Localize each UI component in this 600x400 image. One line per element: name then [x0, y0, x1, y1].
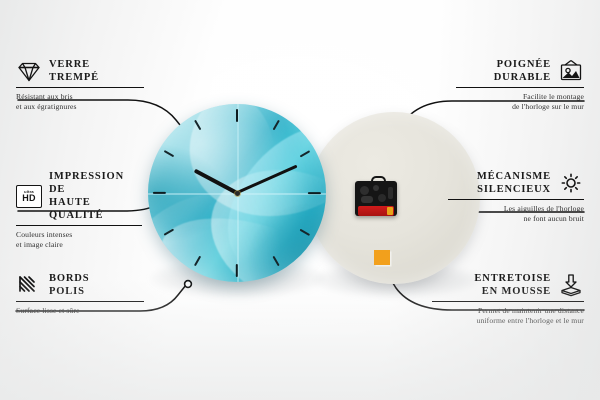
foam-spacer-pad: [374, 250, 390, 265]
feature-desc-line2: ne font aucun bruit: [448, 214, 584, 224]
feature-desc-line1: Couleurs intenses: [16, 230, 142, 240]
feature-title-line2: SILENCIEUX: [477, 183, 551, 196]
feature-desc-line2: et image claire: [16, 240, 142, 250]
feature-title-line1: BORDS: [49, 272, 89, 285]
diamond-icon: [16, 59, 42, 83]
divider: [456, 87, 584, 88]
feature-desc-line2: uniforme entre l'horloge et le mur: [432, 316, 584, 326]
feature-poignee-durable: POIGNÉE DURABLE Facilite le montage de l…: [456, 58, 584, 112]
infographic-canvas: VERRE TREMPÉ Résistant aux bris et aux é…: [0, 0, 600, 400]
divider: [432, 301, 584, 302]
feature-entretoise-en-mousse: ENTRETOISE EN MOUSSE Permet de maintenir…: [432, 272, 584, 326]
feature-mecanisme-silencieux: MÉCANISME SILENCIEUX Les aiguilles de l'…: [448, 170, 584, 224]
feature-title-line1: POIGNÉE: [494, 58, 551, 71]
feature-desc-line2: de l'horloge sur le mur: [456, 102, 584, 112]
feature-title-line1: ENTRETOISE: [474, 272, 551, 285]
feature-desc-line1: Surface lisse et sûre: [16, 306, 144, 316]
divider: [16, 225, 142, 226]
feature-desc-line2: et aux égratignures: [16, 102, 144, 112]
feature-title-line1: VERRE: [49, 58, 99, 71]
feature-impression-haute-qualite: ultra HD IMPRESSION DE HAUTE QUALITÉ Cou…: [16, 170, 142, 250]
feature-title-line2: TREMPÉ: [49, 71, 99, 84]
feature-title-line2: DURABLE: [494, 71, 551, 84]
divider: [448, 199, 584, 200]
battery: [358, 206, 394, 216]
divider: [16, 87, 144, 88]
feature-title-line2: POLIS: [49, 285, 89, 298]
feature-desc-line1: Résistant aux bris: [16, 92, 144, 102]
picture-hanger-icon: [558, 59, 584, 83]
clock-mechanism: [355, 176, 397, 216]
feature-bords-polis: BORDS POLIS Surface lisse et sûre: [16, 272, 144, 316]
polished-edges-icon: [16, 273, 42, 297]
feature-desc-line1: Les aiguilles de l'horloge: [448, 204, 584, 214]
feature-verre-trempe: VERRE TREMPÉ Résistant aux bris et aux é…: [16, 58, 144, 112]
feature-title-line1: IMPRESSION DE: [49, 170, 142, 196]
feature-desc-line1: Facilite le montage: [456, 92, 584, 102]
divider: [16, 301, 144, 302]
gear-icon: [558, 171, 584, 195]
feature-desc-line1: Permet de maintenir une distance: [432, 306, 584, 316]
feature-title-line2: HAUTE QUALITÉ: [49, 196, 142, 222]
clock-front-face: [148, 104, 326, 282]
clock-hub: [235, 191, 240, 196]
foam-spacer-icon: [558, 273, 584, 297]
ultra-hd-icon-main-text: HD: [22, 194, 35, 203]
ultra-hd-icon: ultra HD: [16, 185, 42, 208]
feature-title-line2: EN MOUSSE: [474, 285, 551, 298]
feature-title-line1: MÉCANISME: [477, 170, 551, 183]
